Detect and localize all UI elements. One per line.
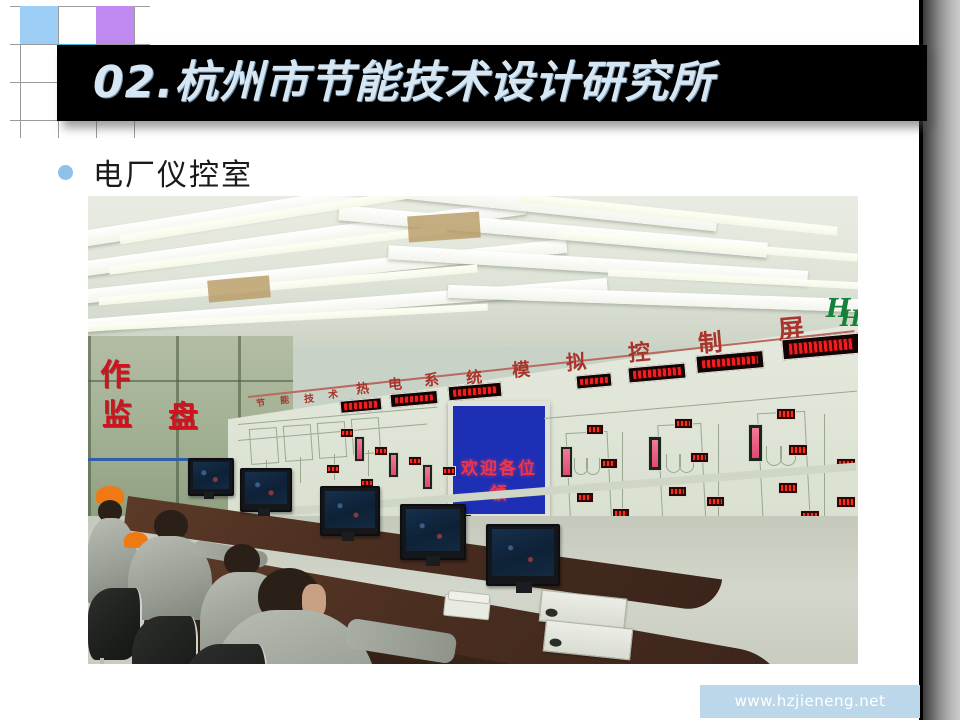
operator-monitor	[400, 504, 466, 560]
panel-gauge	[748, 424, 763, 462]
footer-url[interactable]: www.hzjieneng.net	[700, 685, 920, 718]
panel-header-char-small: 技	[303, 390, 314, 406]
presentation-slide: 02.杭州市节能技术设计研究所 电厂仪控室	[0, 0, 960, 720]
panel-gauge	[648, 436, 662, 471]
led-readout	[326, 464, 340, 474]
schematic-line	[300, 457, 301, 483]
schematic-box	[283, 424, 313, 462]
glass-sign-char-2: 监	[102, 390, 132, 434]
decorative-square-blue	[20, 6, 58, 44]
panel-header-char: 电	[387, 373, 403, 394]
page-title: 02.杭州市节能技术设计研究所	[93, 47, 893, 119]
led-readout	[836, 496, 856, 508]
panel-header-char: 模	[511, 355, 531, 382]
monitor-stand	[342, 532, 354, 541]
led-readout	[674, 418, 693, 429]
led-readout	[576, 492, 594, 503]
monitor-stand	[258, 508, 270, 516]
panel-header-char: 控	[627, 334, 652, 368]
led-readout	[778, 482, 798, 494]
panel-gauge	[422, 464, 433, 490]
monitor-stand	[426, 556, 440, 566]
led-readout	[776, 408, 796, 420]
panel-header-char-small: 能	[279, 393, 289, 407]
led-readout	[586, 424, 604, 435]
led-readout	[600, 458, 618, 469]
monitor-stand	[516, 582, 532, 593]
hh-logo: H	[840, 306, 858, 332]
schematic-coil	[586, 458, 600, 475]
panel-gauge	[388, 452, 399, 478]
glass-sign-char-3: 盘	[168, 392, 198, 436]
panel-header-char-small: 节	[255, 396, 265, 410]
schematic-line	[368, 450, 369, 476]
glass-sign-char-1: 作	[100, 350, 130, 394]
panel-header-char-small: 术	[327, 386, 338, 402]
operator-monitor	[188, 458, 234, 496]
schematic-box	[317, 421, 347, 459]
panel-header-char: 拟	[565, 345, 587, 376]
panel-gauge	[560, 446, 573, 478]
operator-monitor	[240, 468, 292, 512]
right-edge-gradient	[923, 0, 960, 720]
glass-mullion	[88, 336, 91, 526]
panel-header-char: 热	[355, 377, 370, 397]
panel-header-char: 系	[423, 368, 440, 390]
led-readout	[690, 452, 709, 463]
led-readout	[340, 428, 354, 438]
panel-gauge	[354, 436, 365, 462]
bullet-item: 电厂仪控室	[58, 150, 253, 194]
led-readout	[442, 466, 456, 476]
ceiling-light	[558, 230, 858, 262]
ceiling-vent	[207, 275, 271, 302]
control-room-photo: 作 监 盘 热 电 系 统 模 拟 控 制 屏 H H 节 能 技 术	[88, 196, 858, 664]
led-readout	[706, 496, 725, 507]
led-readout	[668, 486, 687, 497]
ceiling	[88, 196, 858, 346]
operator-monitor	[486, 524, 560, 586]
led-readout	[374, 446, 388, 456]
monitor-stand	[204, 492, 214, 499]
schematic-box	[249, 427, 279, 465]
ceiling-vent	[407, 212, 481, 243]
operator-monitor	[320, 486, 380, 536]
desk-telephone	[443, 594, 491, 621]
bullet-item-label: 电厂仪控室	[93, 150, 253, 194]
bullet-dot-icon	[58, 165, 73, 180]
chair-leg	[100, 658, 104, 664]
decorative-square-purple	[96, 6, 134, 44]
led-readout	[788, 444, 808, 456]
led-readout	[408, 456, 422, 466]
